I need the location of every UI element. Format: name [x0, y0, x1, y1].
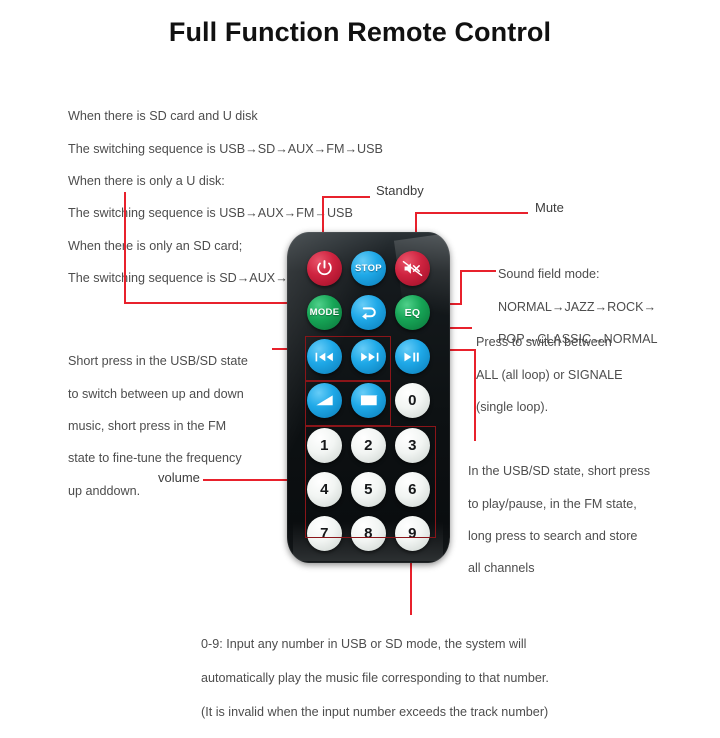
note-line: The switching sequence is USB→AUX→FM→USB: [68, 205, 408, 221]
leader-line-eq-horizontal: [460, 270, 496, 272]
note-line: ALL (all loop) or SIGNALE: [476, 367, 676, 383]
leader-line-mute-horizontal: [415, 212, 528, 214]
note-line: automatically play the music file corres…: [201, 670, 621, 687]
note-line: music, short press in the FM: [68, 418, 283, 434]
loop-repeat-icon: [358, 303, 379, 322]
note-line: NORMAL→JAZZ→ROCK→: [498, 299, 698, 315]
highlight-box-prev-next: [305, 336, 391, 381]
play-pause-note: In the USB/SD state, short press to play…: [468, 447, 678, 593]
eq-button[interactable]: EQ: [395, 295, 430, 330]
volume-label: volume: [158, 470, 200, 486]
loop-button[interactable]: [351, 295, 386, 330]
note-line: (single loop).: [476, 399, 676, 415]
stop-button[interactable]: STOP: [351, 251, 386, 286]
note-line: The switching sequence is USB→SD→AUX→FM→…: [68, 141, 408, 157]
diagram-canvas: Full Function Remote Control When there …: [0, 0, 720, 720]
mute-label: Mute: [535, 200, 564, 216]
body-highlight: [394, 232, 450, 359]
note-line: Sound field mode:: [498, 266, 698, 282]
note-line: Press to switch between: [476, 334, 676, 350]
note-line: to play/pause, in the FM state,: [468, 496, 678, 512]
eq-button-label: EQ: [405, 307, 421, 319]
leader-line-mode-vertical: [124, 192, 126, 303]
note-line: When there is only a U disk:: [68, 173, 408, 189]
mode-button[interactable]: MODE: [307, 295, 342, 330]
note-line: to switch between up and down: [68, 386, 283, 402]
note-line: Short press in the USB/SD state: [68, 353, 283, 369]
key-0-button[interactable]: 0: [395, 383, 430, 418]
note-line: When there is SD card and U disk: [68, 108, 408, 124]
play-pause-button[interactable]: [395, 339, 430, 374]
leader-line-eq-vertical: [460, 270, 462, 304]
note-line: long press to search and store: [468, 528, 678, 544]
play-pause-icon: [402, 350, 423, 364]
power-icon: [315, 259, 334, 278]
numeric-keys-note: 0-9: Input any number in USB or SD mode,…: [201, 619, 621, 738]
mute-button[interactable]: [395, 251, 430, 286]
page-title: Full Function Remote Control: [0, 17, 720, 48]
stop-button-label: STOP: [355, 263, 382, 274]
prev-next-note: Short press in the USB/SD state to switc…: [68, 337, 283, 515]
note-line: (It is invalid when the input number exc…: [201, 704, 621, 721]
note-line: all channels: [468, 560, 678, 576]
key-0-label: 0: [408, 392, 417, 409]
leader-line-standby-horizontal: [322, 196, 370, 198]
power-button[interactable]: [307, 251, 342, 286]
standby-label: Standby: [376, 183, 424, 199]
highlight-box-numeric-keys: [305, 426, 436, 538]
highlight-box-volume: [305, 381, 391, 426]
note-line: state to fine-tune the frequency: [68, 450, 283, 466]
mode-button-label: MODE: [310, 307, 340, 318]
leader-line-play-vertical: [474, 349, 476, 441]
leader-line-mode-horizontal: [124, 302, 306, 304]
note-line: In the USB/SD state, short press: [468, 463, 678, 479]
note-line: 0-9: Input any number in USB or SD mode,…: [201, 636, 621, 653]
mute-icon: [402, 259, 423, 278]
loop-mode-note: Press to switch between ALL (all loop) o…: [476, 318, 676, 431]
